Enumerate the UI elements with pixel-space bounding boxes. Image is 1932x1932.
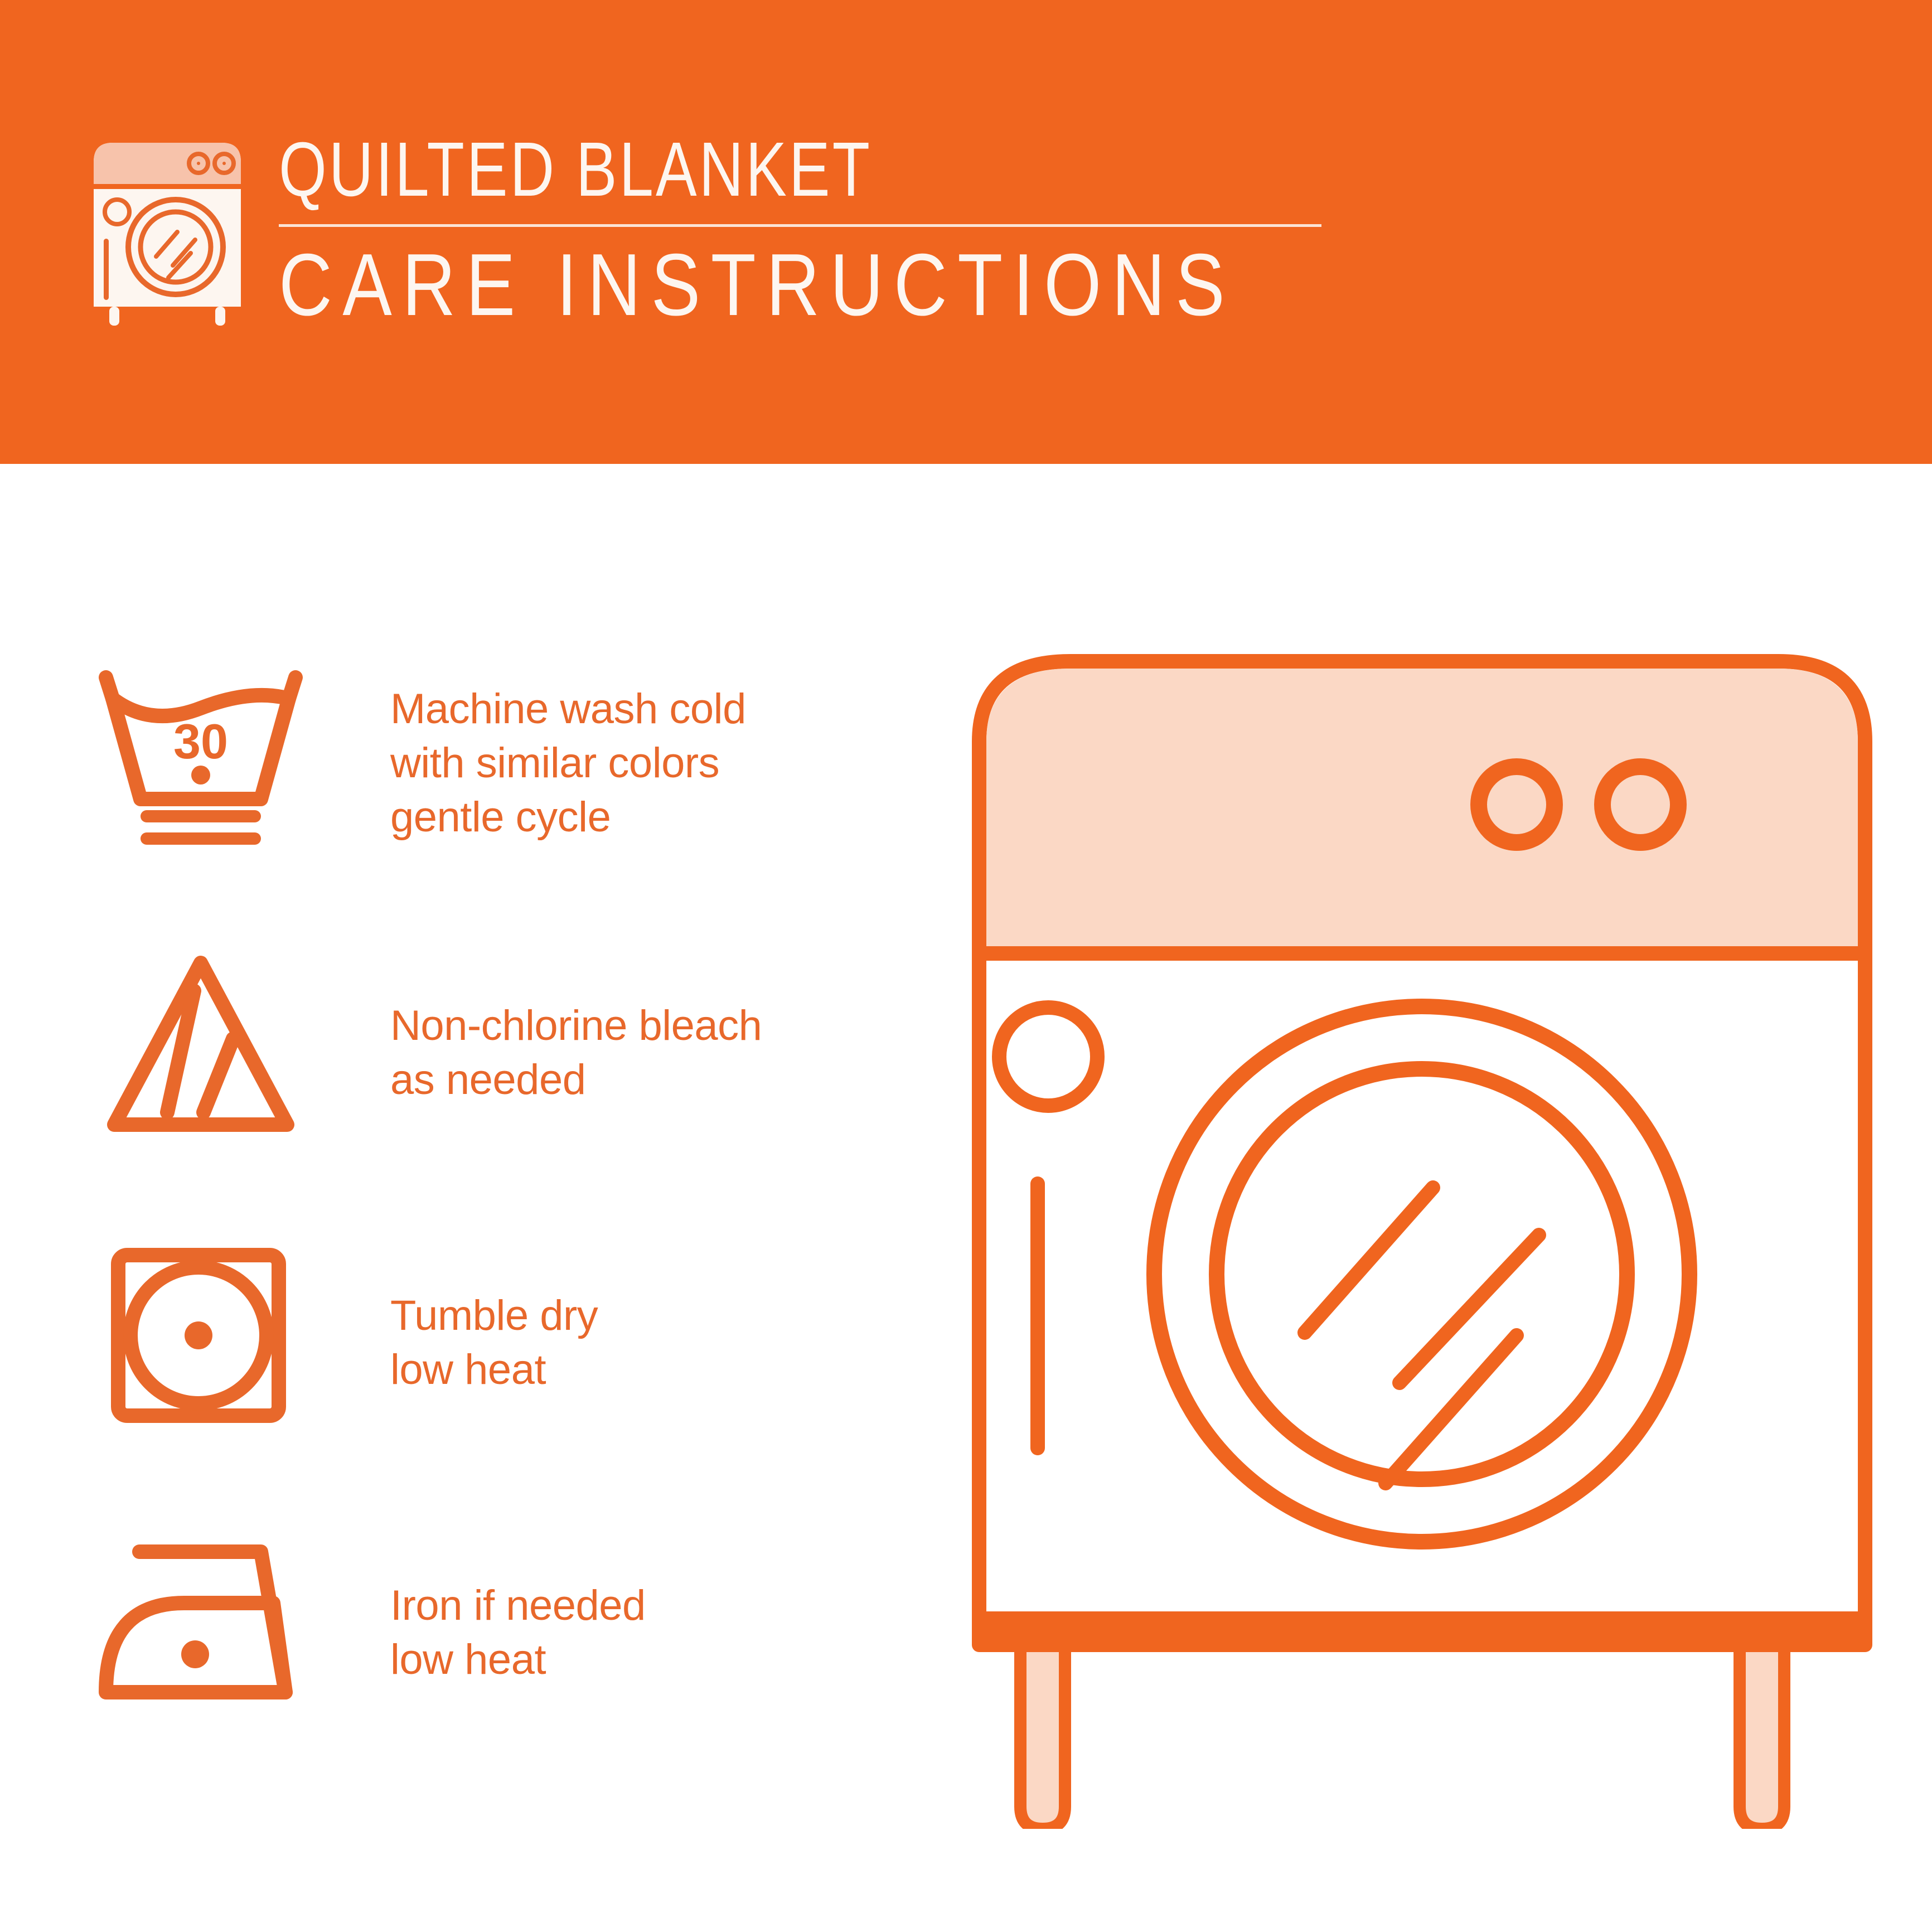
care-symbol-label: Iron if needed low heat <box>390 1578 646 1687</box>
page-title: QUILTED BLANKET <box>279 128 1117 211</box>
care-symbol-list: 30 Machine wash cold with similar colors… <box>0 655 948 1815</box>
svg-text:30: 30 <box>173 714 228 769</box>
care-symbol-row: 30 Machine wash cold with similar colors… <box>0 655 948 945</box>
care-symbol-label: Tumble dry low heat <box>390 1289 598 1397</box>
leg-right <box>1740 1628 1784 1829</box>
care-symbol-row: Non-chlorine bleach as needed <box>0 945 948 1235</box>
washing-machine-icon <box>84 133 251 328</box>
non-chlorine-bleach-triangle-icon <box>89 945 312 1146</box>
header-band: QUILTED BLANKET CARE INSTRUCTIONS <box>0 0 1932 464</box>
washing-machine-illustration <box>959 641 1885 1829</box>
care-symbol-label: Machine wash cold with similar colors ge… <box>390 682 746 844</box>
care-symbol-row: Iron if needed low heat <box>0 1525 948 1815</box>
page-subtitle: CARE INSTRUCTIONS <box>279 239 1159 331</box>
header-text-block: QUILTED BLANKET CARE INSTRUCTIONS <box>279 128 1327 331</box>
care-symbol-label: Non-chlorine bleach as needed <box>390 999 762 1107</box>
care-instructions-page: QUILTED BLANKET CARE INSTRUCTIONS 30 <box>0 0 1932 1932</box>
care-symbol-row: Tumble dry low heat <box>0 1235 948 1525</box>
tumble-dry-low-heat-icon <box>89 1235 312 1436</box>
iron-low-heat-icon <box>89 1525 312 1726</box>
leg-left <box>1020 1628 1065 1829</box>
wash-basin-30-gentle-icon: 30 <box>89 655 312 856</box>
title-divider <box>279 224 1321 227</box>
